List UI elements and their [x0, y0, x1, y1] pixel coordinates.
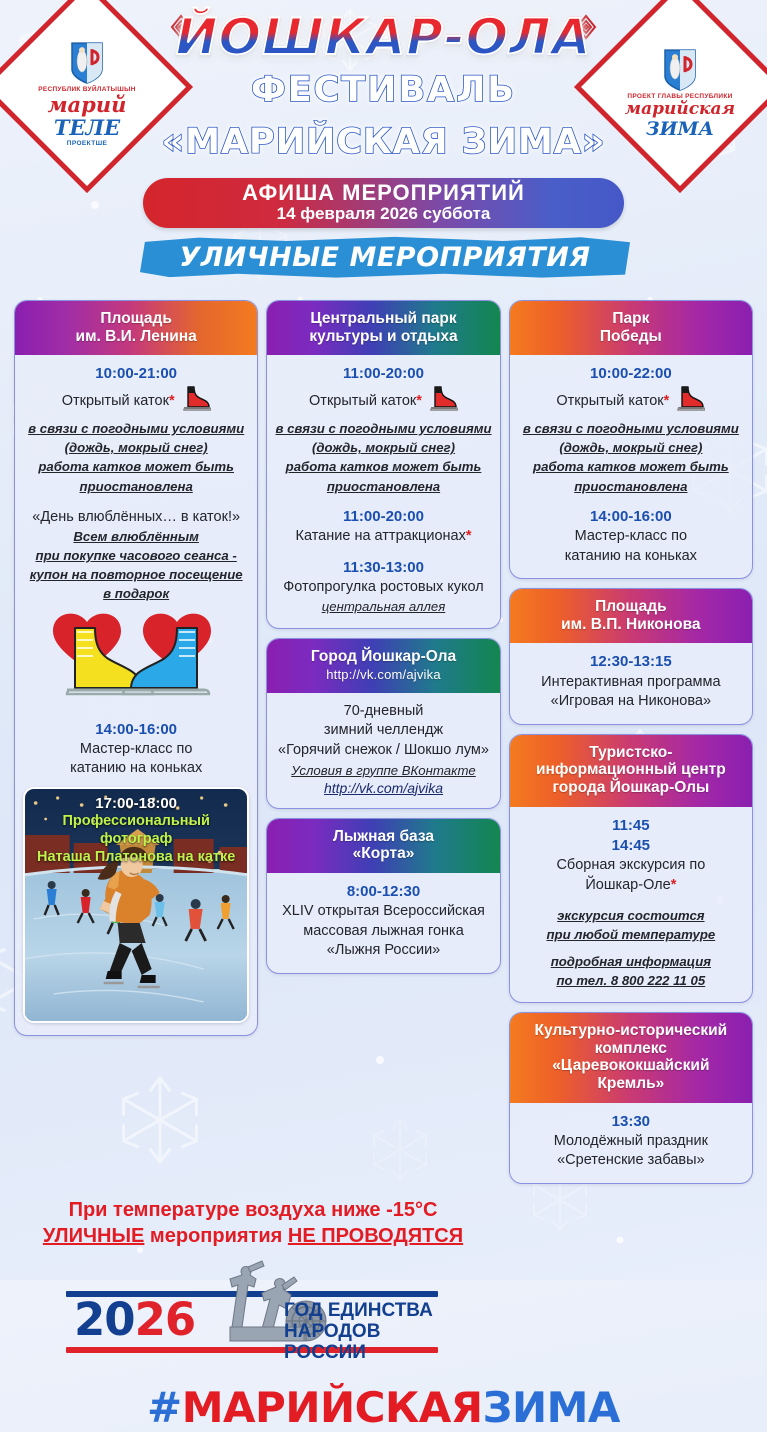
card-header: Площадь им. В.П. Никонова	[510, 589, 752, 643]
event-time: 13:30	[518, 1112, 744, 1132]
venue-title-line2: «Корта»	[273, 845, 493, 863]
venue-title-line2: им. В.И. Ленина	[21, 328, 251, 346]
card-header: Парк Победы	[510, 301, 752, 355]
photographer-time: 17:00-18:00	[25, 795, 247, 813]
weather-note-line4: приостановлена	[275, 477, 491, 496]
poster-title-bar: АФИША МЕРОПРИЯТИЙ 14 февраля 2026 суббот…	[143, 178, 624, 228]
card-body: 11:00-20:00 Открытый каток* в св	[267, 355, 499, 628]
masterclass-time: 14:00-16:00	[518, 507, 744, 527]
venue-card-nikonov-square[interactable]: Площадь им. В.П. Никонова 12:30-13:15 Ин…	[509, 588, 753, 725]
card-header: Культурно-исторический комплекс «Царевок…	[510, 1013, 752, 1103]
card-body: 8:00-12:30 XLIV открытая Всероссийская м…	[267, 873, 499, 973]
column-2: Центральный парк культуры и отдыха 11:00…	[266, 300, 500, 974]
asterisk-icon: *	[466, 528, 472, 544]
masterclass-name-line2: катанию на коньках	[518, 547, 744, 567]
excursion-phone: по тел. 8 800 222 11 05	[518, 971, 744, 990]
photowalk-place: центральная аллея	[275, 597, 491, 616]
masterclass-name-line1: Мастер-класс по	[518, 527, 744, 547]
challenge-line2: зимний челлендж	[275, 721, 491, 741]
weather-note-line2: (дождь, мокрый снег)	[518, 438, 744, 457]
venue-card-kremlin[interactable]: Культурно-исторический комплекс «Царевок…	[509, 1012, 753, 1184]
weather-note-line3: работа катков может быть	[518, 457, 744, 476]
asterisk-icon: *	[671, 877, 677, 893]
event-name-text: Открытый каток	[556, 393, 663, 409]
section-title: УЛИЧНЫЕ МЕРОПРИЯТИЯ	[179, 242, 590, 273]
logo-text-line1: ГОД ЕДИНСТВА	[284, 1300, 452, 1321]
venue-title-line4: Кремль»	[516, 1075, 746, 1093]
rides-name: Катание на аттракционах*	[275, 527, 491, 547]
city-title: ЙОШКАР-ОЛА	[0, 8, 767, 66]
card-header: Город Йошкар-Ола http://vk.com/ajvika	[267, 639, 499, 692]
logo-text-line2: НАРОДОВ РОССИИ	[284, 1321, 452, 1364]
challenge-line1: 70-дневный	[275, 702, 491, 722]
temperature-warning: При температуре воздуха ниже -15°C УЛИЧН…	[14, 1198, 492, 1249]
photographer-caption: 17:00-18:00 Профессиональный фотограф На…	[25, 795, 247, 866]
column-1: Площадь им. В.И. Ленина 10:00-21:00 Откр…	[14, 300, 258, 1036]
excursion-name-line2: Йошкар-Оле*	[518, 876, 744, 896]
event-name: Открытый каток*	[23, 385, 249, 420]
photographer-line2: Наташа Платонова на катке	[25, 849, 247, 867]
hearts-and-skates-illustration	[23, 606, 249, 716]
venue-title-line1: Центральный парк	[273, 310, 493, 328]
venue-card-city-yoshkar-ola[interactable]: Город Йошкар-Ола http://vk.com/ajvika 70…	[266, 638, 500, 808]
weather-note-line4: приостановлена	[518, 477, 744, 496]
warning-cancel-words: НЕ ПРОВОДЯТСЯ	[288, 1225, 463, 1247]
venue-title-line1: Площадь	[21, 310, 251, 328]
valentines-note-line3: купон на повторное посещение	[23, 565, 249, 584]
venue-title-line2: информационный центр	[516, 761, 746, 779]
card-body: 13:30 Молодёжный праздник «Сретенские за…	[510, 1103, 752, 1183]
challenge-vk-url[interactable]: http://vk.com/ajvika	[275, 780, 491, 796]
poster-date: 14 февраля 2026 суббота	[277, 204, 491, 224]
warning-outdoor-word: УЛИЧНЫЕ	[43, 1225, 145, 1247]
excursion-name-line1: Сборная экскурсия по	[518, 856, 744, 876]
excursion-time-2: 14:45	[518, 836, 744, 856]
logo-text: ГОД ЕДИНСТВА НАРОДОВ РОССИИ	[284, 1300, 452, 1364]
valentines-note-line4: в подарок	[23, 584, 249, 603]
ice-skate-icon	[426, 385, 458, 420]
event-name: Открытый каток*	[518, 385, 744, 420]
masterclass-time: 14:00-16:00	[23, 720, 249, 740]
column-3: Парк Победы 10:00-22:00 Открытый каток*	[509, 300, 753, 1184]
card-header: Центральный парк культуры и отдыха	[267, 301, 499, 355]
venue-title-line2: комплекс	[516, 1040, 746, 1058]
weather-note-line1: в связи с погодными условиями	[518, 419, 744, 438]
asterisk-icon: *	[169, 393, 175, 409]
valentines-note-line2: при покупке часового сеанса -	[23, 546, 249, 565]
venue-title-line1: Лыжная база	[273, 828, 493, 846]
photographer-line1: Профессиональный фотограф	[25, 813, 247, 848]
event-time: 12:30-13:15	[518, 652, 744, 672]
challenge-line3: «Горячий снежок / Шокшо лум»	[275, 741, 491, 761]
venue-title-line1: Парк	[516, 310, 746, 328]
asterisk-icon: *	[416, 393, 422, 409]
poster-header: РЕСПУБЛИК ВУЙЛАТЫШЫН марий ТЕЛЕ ПРОЕКТШЕ	[0, 0, 767, 300]
weather-note-line3: работа катков может быть	[275, 457, 491, 476]
card-body: 12:30-13:15 Интерактивная программа «Игр…	[510, 643, 752, 723]
hashtag-word-red: МАРИЙСКАЯ	[182, 1383, 483, 1432]
event-time: 10:00-22:00	[518, 364, 744, 384]
festival-hashtag: #МАРИЙСКАЯЗИМА	[0, 1383, 767, 1432]
weather-note-line1: в связи с погодными условиями	[275, 419, 491, 438]
festival-name: «МАРИЙСКАЯ ЗИМА»	[0, 122, 767, 162]
weather-note-line2: (дождь, мокрый снег)	[23, 438, 249, 457]
excursion-name-text: Йошкар-Оле	[585, 877, 670, 893]
card-header: Лыжная база «Корта»	[267, 819, 499, 873]
venue-card-tourist-center[interactable]: Туристско- информационный центр города Й…	[509, 734, 753, 1003]
venue-title-line3: «Царевококшайский	[516, 1057, 746, 1075]
venue-vk-url[interactable]: http://vk.com/ajvika	[273, 668, 493, 683]
card-body: 10:00-21:00 Открытый каток* в св	[15, 355, 257, 1035]
masterclass-name-line1: Мастер-класс по	[23, 740, 249, 760]
race-time: 8:00-12:30	[275, 882, 491, 902]
event-time: 10:00-21:00	[23, 364, 249, 384]
excursion-note-line2: при любой температуре	[518, 925, 744, 944]
event-name-line2: «Игровая на Никонова»	[518, 692, 744, 712]
page-title: АФИША МЕРОПРИЯТИЙ	[242, 181, 525, 204]
venue-card-victory-park[interactable]: Парк Победы 10:00-22:00 Открытый каток*	[509, 300, 753, 579]
valentines-event-title: «День влюблённых… в каток!»	[23, 507, 249, 527]
year-of-unity-logo: 2026 ГОД ЕДИНСТВА НАРОДОВ РОССИИ	[52, 1275, 452, 1361]
warning-line1: При температуре воздуха ниже -15°C	[14, 1198, 492, 1223]
venue-title-line1: Туристско-	[516, 744, 746, 762]
hashtag-word-blue: ЗИМА	[483, 1383, 620, 1432]
card-body: 10:00-22:00 Открытый каток* в св	[510, 355, 752, 578]
logo-year-blue: 20	[74, 1293, 135, 1346]
event-time: 11:00-20:00	[275, 364, 491, 384]
venue-title-line2: культуры и отдыха	[273, 328, 493, 346]
warning-middle-word: мероприятия	[144, 1225, 288, 1247]
hashtag-symbol: #	[147, 1383, 182, 1432]
venue-title-line2: Победы	[516, 328, 746, 346]
excursion-note-line1: экскурсия состоится	[518, 906, 744, 925]
card-body: 70-дневный зимний челлендж «Горячий снеж…	[267, 693, 499, 808]
weather-note-line1: в связи с погодными условиями	[23, 419, 249, 438]
card-header: Площадь им. В.И. Ленина	[15, 301, 257, 355]
excursion-info-line1: подробная информация	[518, 952, 744, 971]
venue-title-line2: им. В.П. Никонова	[516, 616, 746, 634]
photowalk-time: 11:30-13:00	[275, 558, 491, 578]
event-name-text: Открытый каток	[62, 393, 169, 409]
masterclass-name-line2: катанию на коньках	[23, 759, 249, 779]
excursion-time-1: 11:45	[518, 816, 744, 836]
photographer-event-photo[interactable]: 17:00-18:00 Профессиональный фотограф На…	[23, 787, 249, 1023]
rides-name-text: Катание на аттракционах	[296, 528, 466, 544]
venue-title-line1: Культурно-исторический	[516, 1022, 746, 1040]
card-header: Туристско- информационный центр города Й…	[510, 735, 752, 807]
event-name-line2: «Сретенские забавы»	[518, 1151, 744, 1171]
weather-note-line2: (дождь, мокрый снег)	[275, 438, 491, 457]
section-title-banner: УЛИЧНЫЕ МЕРОПРИЯТИЯ	[140, 236, 630, 278]
valentines-note-line1: Всем влюблённым	[23, 527, 249, 546]
challenge-conditions: Условия в группе ВКонтакте	[275, 761, 491, 780]
weather-note-line3: работа катков может быть	[23, 457, 249, 476]
ice-skate-icon	[179, 385, 211, 420]
venue-card-ski-base[interactable]: Лыжная база «Корта» 8:00-12:30 XLIV откр…	[266, 818, 500, 974]
logo-year: 2026	[74, 1297, 195, 1342]
asterisk-icon: *	[664, 393, 670, 409]
card-body: 11:45 14:45 Сборная экскурсия по Йошкар-…	[510, 807, 752, 1002]
venue-card-central-park[interactable]: Центральный парк культуры и отдыха 11:00…	[266, 300, 500, 629]
weather-note-line4: приостановлена	[23, 477, 249, 496]
venue-title-line1: Площадь	[516, 598, 746, 616]
ice-skate-icon	[673, 385, 705, 420]
race-line1: XLIV открытая Всероссийская	[275, 902, 491, 922]
venue-card-lenin-square[interactable]: Площадь им. В.И. Ленина 10:00-21:00 Откр…	[14, 300, 258, 1036]
venue-title: Город Йошкар-Ола	[273, 648, 493, 666]
photowalk-name: Фотопрогулка ростовых кукол	[275, 578, 491, 598]
festival-label: ФЕСТИВАЛЬ	[0, 70, 767, 110]
race-line2: массовая лыжная гонка	[275, 922, 491, 942]
event-name: Открытый каток*	[275, 385, 491, 420]
event-name-text: Открытый каток	[309, 393, 416, 409]
event-name-line1: Интерактивная программа	[518, 673, 744, 693]
race-line3: «Лыжня России»	[275, 941, 491, 961]
venue-columns: Площадь им. В.И. Ленина 10:00-21:00 Откр…	[0, 300, 767, 1184]
venue-title-line3: города Йошкар-Олы	[516, 779, 746, 797]
warning-line2: УЛИЧНЫЕ мероприятия НЕ ПРОВОДЯТСЯ	[14, 1223, 492, 1249]
rides-time: 11:00-20:00	[275, 507, 491, 527]
logo-year-red: 26	[135, 1293, 196, 1346]
event-name-line1: Молодёжный праздник	[518, 1132, 744, 1152]
